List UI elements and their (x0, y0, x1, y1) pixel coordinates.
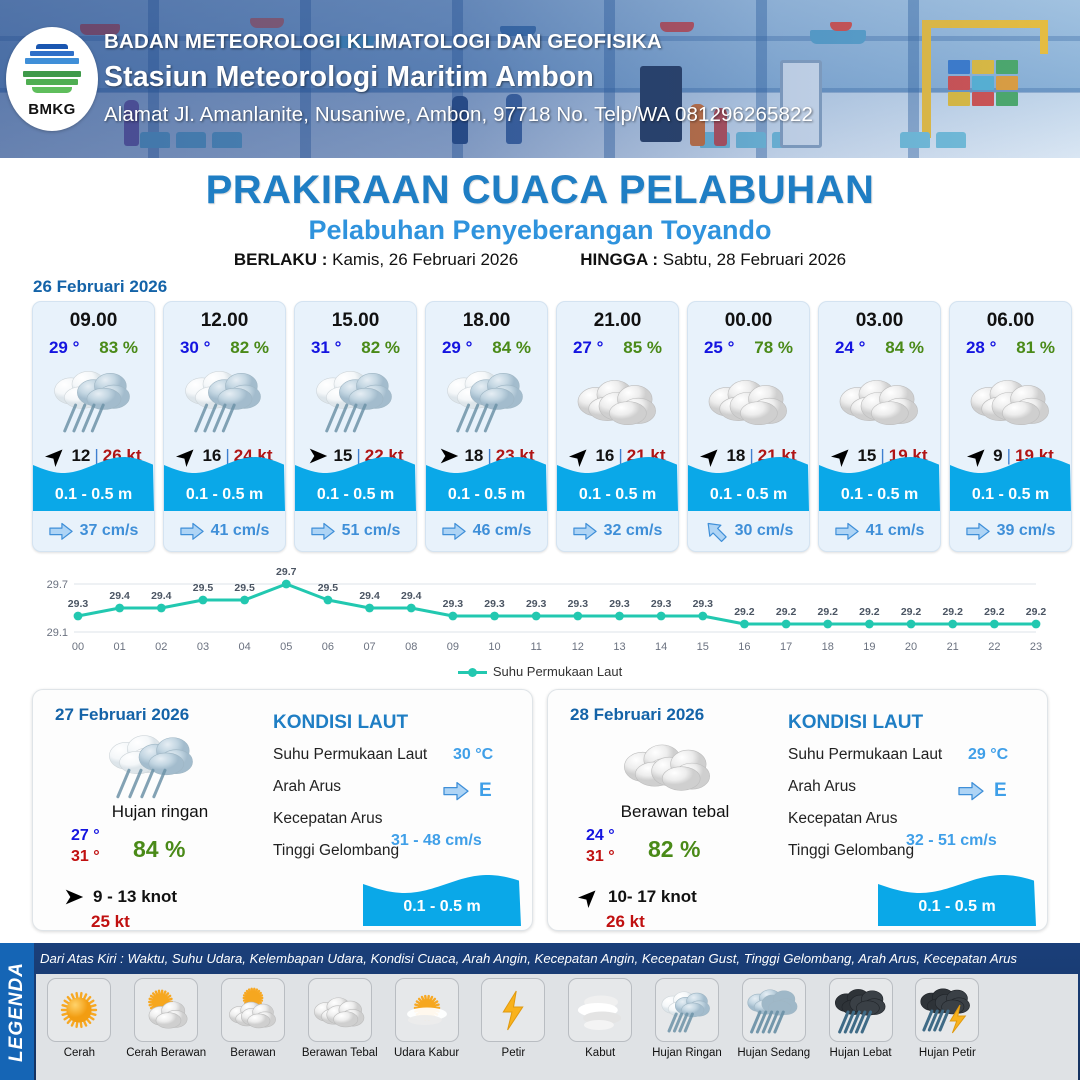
legend-item-caption: Udara Kabur (394, 1047, 459, 1059)
card-time: 03.00 (819, 310, 940, 332)
cloudy-icon (703, 361, 795, 437)
svg-text:11: 11 (530, 641, 541, 653)
panel-row-value-current-dir: E (479, 780, 492, 802)
card-current-row: 51 cm/s (295, 517, 416, 545)
legend-item-caption: Hujan Lebat (830, 1047, 892, 1059)
card-humidity: 84 % (885, 338, 924, 358)
card-wave-height: 0.1 - 0.5 m (164, 486, 285, 504)
svg-text:07: 07 (363, 641, 375, 653)
lightning-icon (486, 985, 540, 1035)
panel-wave-box (363, 864, 521, 926)
panel-temp-block: 24 ° 31 ° (586, 827, 615, 866)
forecast-card[interactable]: 03.00 24 ° 84 % 15 | 19 kt (818, 301, 941, 552)
cloudy-icon (608, 725, 728, 803)
card-current-speed: 32 cm/s (604, 522, 663, 540)
card-temp-hum-row: 27 ° 85 % (557, 338, 678, 358)
legend-icon-box (655, 978, 719, 1042)
panel-row-label-current-speed: Kecepatan Arus (273, 810, 382, 828)
card-humidity: 82 % (361, 338, 400, 358)
svg-text:29.3: 29.3 (609, 598, 630, 610)
wind-direction-arrow-ne-icon (573, 881, 604, 912)
card-current-row: 37 cm/s (33, 517, 154, 545)
legend-icon-box (395, 978, 459, 1042)
svg-text:29.3: 29.3 (651, 598, 672, 610)
moderate-rain-icon (747, 985, 801, 1035)
card-humidity: 85 % (623, 338, 662, 358)
legend-icon-box (221, 978, 285, 1042)
forecast-card[interactable]: 18.00 29 ° 84 % 18 | 23 kt (425, 301, 548, 552)
card-temperature: 24 ° (835, 338, 865, 358)
svg-text:10: 10 (488, 641, 500, 653)
panel-row-value-current-speed: 32 - 51 cm/s (906, 832, 997, 850)
panel-temp-max: 31 ° (586, 848, 615, 866)
svg-text:01: 01 (114, 641, 126, 653)
svg-text:09: 09 (447, 641, 459, 653)
validity-from-value: Kamis, 26 Februari 2026 (332, 250, 518, 269)
svg-text:29.2: 29.2 (942, 606, 963, 618)
thunderstorm-icon (920, 985, 974, 1035)
svg-text:29.5: 29.5 (193, 582, 214, 594)
card-temp-hum-row: 28 ° 81 % (950, 338, 1071, 358)
cloudy-icon (965, 361, 1057, 437)
organization-name: BADAN METEOROLOGI KLIMATOLOGI DAN GEOFIS… (104, 30, 813, 54)
card-temp-hum-row: 30 ° 82 % (164, 338, 285, 358)
current-direction-arrow-e-icon (958, 781, 984, 801)
legend-label: Suhu Permukaan Laut (493, 664, 622, 679)
svg-text:03: 03 (197, 641, 209, 653)
current-direction-arrow-e-icon (835, 522, 859, 541)
validity-from: BERLAKU : Kamis, 26 Februari 2026 (234, 250, 518, 270)
card-temperature: 31 ° (311, 338, 341, 358)
legend-item-caption: Kabut (585, 1047, 615, 1059)
validity-to: HINGGA : Sabtu, 28 Februari 2026 (580, 250, 846, 270)
legend-item[interactable]: Petir (470, 974, 557, 1059)
card-temperature: 29 ° (49, 338, 79, 358)
panel-temp-min: 27 ° (71, 827, 100, 845)
panel-wind-gust: 25 kt (91, 912, 130, 932)
svg-text:29.3: 29.3 (693, 598, 714, 610)
svg-text:21: 21 (947, 641, 959, 653)
current-direction-arrow-e-icon (442, 522, 466, 541)
panel-row-label-sst: Suhu Permukaan Laut (788, 746, 942, 764)
card-temperature: 28 ° (966, 338, 996, 358)
panel-section-title: KONDISI LAUT (273, 712, 408, 734)
card-current-row: 39 cm/s (950, 517, 1071, 545)
panel-current-direction: E (443, 780, 492, 802)
svg-text:13: 13 (613, 641, 625, 653)
legend-footer: LEGENDA Dari Atas Kiri : Waktu, Suhu Uda… (0, 943, 1080, 1080)
panel-temp-min: 24 ° (586, 827, 615, 845)
panel-date: 28 Februari 2026 (570, 705, 704, 725)
current-direction-arrow-e-icon (49, 522, 73, 541)
card-humidity: 84 % (492, 338, 531, 358)
svg-text:06: 06 (322, 641, 334, 653)
fog-icon (573, 985, 627, 1035)
legend-icon-box (829, 978, 893, 1042)
svg-text:08: 08 (405, 641, 417, 653)
card-temperature: 27 ° (573, 338, 603, 358)
card-wave-height: 0.1 - 0.5 m (950, 486, 1071, 504)
legend-icon-box (742, 978, 806, 1042)
svg-text:29.3: 29.3 (484, 598, 505, 610)
light-rain-icon (441, 361, 533, 437)
panel-condition: Berawan tebal (570, 802, 780, 822)
card-temperature: 29 ° (442, 338, 472, 358)
current-direction-arrow-e-icon (443, 781, 469, 801)
light-rain-icon (179, 361, 271, 437)
legend-icon-box (47, 978, 111, 1042)
partly-cloudy-icon (139, 985, 193, 1035)
legend-item-caption: Hujan Ringan (652, 1047, 722, 1059)
hourly-forecast-list: 09.00 29 ° 83 % 12 | 26 kt (32, 301, 1072, 552)
legend-item[interactable]: Udara Kabur (383, 974, 470, 1059)
svg-text:19: 19 (863, 641, 875, 653)
card-wave-height: 0.1 - 0.5 m (426, 486, 547, 504)
validity-to-value: Sabtu, 28 Februari 2026 (663, 250, 846, 269)
panel-temp-block: 27 ° 31 ° (71, 827, 100, 866)
card-current-row: 41 cm/s (164, 517, 285, 545)
current-direction-arrow-e-icon (573, 522, 597, 541)
panel-row-label-current-dir: Arah Arus (273, 778, 341, 796)
overcast-icon (313, 985, 367, 1035)
validity-row: BERLAKU : Kamis, 26 Februari 2026 HINGGA… (0, 250, 1080, 270)
legend-item[interactable]: Berawan Tebal (296, 974, 383, 1059)
panel-row-value-sst: 29 °C (968, 746, 1008, 764)
svg-text:29.3: 29.3 (68, 598, 89, 610)
page-title: PRAKIRAAN CUACA PELABUHAN (0, 168, 1080, 213)
panel-row-value-wave: 0.1 - 0.5 m (878, 898, 1036, 916)
card-weather-icon (557, 358, 678, 440)
light-rain-icon (48, 361, 140, 437)
svg-text:14: 14 (655, 641, 667, 653)
card-weather-icon (33, 358, 154, 440)
svg-text:29.2: 29.2 (818, 606, 839, 618)
svg-text:20: 20 (905, 641, 917, 653)
cloudy-icon (572, 361, 664, 437)
card-temperature: 30 ° (180, 338, 210, 358)
forecast-card[interactable]: 15.00 31 ° 82 % 15 | 22 kt (294, 301, 417, 552)
header-banner: BMKG BADAN METEOROLOGI KLIMATOLOGI DAN G… (0, 0, 1080, 158)
legend-side-label: LEGENDA (6, 962, 28, 1062)
panel-wave-graphic (363, 864, 521, 926)
card-current-speed: 39 cm/s (997, 522, 1056, 540)
legend-item[interactable]: Hujan Lebat (817, 974, 904, 1059)
panel-wind-row: 10- 17 knot (578, 886, 697, 908)
legend-item-caption: Berawan (230, 1047, 275, 1059)
legend-item[interactable]: Hujan Ringan (644, 974, 731, 1059)
card-humidity: 81 % (1016, 338, 1055, 358)
legend-item[interactable]: Kabut (557, 974, 644, 1059)
light-rain-icon (310, 361, 402, 437)
card-weather-icon (295, 358, 416, 440)
forecast-card[interactable]: 12.00 30 ° 82 % 16 | 24 kt (163, 301, 286, 552)
card-current-speed: 30 cm/s (735, 522, 794, 540)
legend-item[interactable]: Cerah (36, 974, 123, 1059)
forecast-day-label: 26 Februari 2026 (33, 277, 167, 297)
panel-condition: Hujan ringan (55, 802, 265, 822)
panel-wind-row: 9 - 13 knot (63, 886, 177, 908)
card-humidity: 83 % (99, 338, 138, 358)
panel-humidity: 84 % (133, 836, 185, 863)
panel-weather-icon (608, 725, 728, 803)
legend-icon-box (915, 978, 979, 1042)
legend-item[interactable]: Hujan Petir (904, 974, 991, 1059)
card-weather-icon (164, 358, 285, 440)
legend-note: Dari Atas Kiri : Waktu, Suhu Udara, Kele… (40, 951, 1076, 966)
legend-item[interactable]: Cerah Berawan (123, 974, 210, 1059)
panel-section-title: KONDISI LAUT (788, 712, 923, 734)
current-direction-arrow-nw-icon (701, 516, 731, 546)
cloudy-sun-icon (226, 985, 280, 1035)
panel-row-value-sst: 30 °C (453, 746, 493, 764)
sunny-icon (52, 985, 106, 1035)
current-direction-arrow-e-icon (966, 522, 990, 541)
legend-icon-strip: Cerah Cerah Berawan Berawan (36, 974, 1078, 1080)
svg-text:29.5: 29.5 (234, 582, 255, 594)
legend-item-caption: Cerah (64, 1047, 95, 1059)
current-direction-arrow-e-icon (180, 522, 204, 541)
card-humidity: 82 % (230, 338, 269, 358)
card-current-speed: 41 cm/s (211, 522, 270, 540)
svg-text:29.5: 29.5 (318, 582, 339, 594)
panel-row-value-current-dir: E (994, 780, 1007, 802)
legend-item-caption: Petir (502, 1047, 526, 1059)
current-direction-arrow-e-icon (311, 522, 335, 541)
legend-item[interactable]: Berawan (210, 974, 297, 1059)
card-humidity: 78 % (754, 338, 793, 358)
panel-row-label-sst: Suhu Permukaan Laut (273, 746, 427, 764)
legend-side-tab: LEGENDA (0, 943, 34, 1080)
panel-wind-speed: 10- 17 knot (608, 887, 697, 907)
legend-item[interactable]: Hujan Sedang (730, 974, 817, 1059)
panel-current-direction: E (958, 780, 1007, 802)
card-current-speed: 41 cm/s (866, 522, 925, 540)
svg-text:12: 12 (572, 641, 584, 653)
card-current-speed: 37 cm/s (80, 522, 139, 540)
card-temp-hum-row: 24 ° 84 % (819, 338, 940, 358)
station-name: Stasiun Meteorologi Maritim Ambon (104, 61, 813, 94)
forecast-card[interactable]: 21.00 27 ° 85 % 16 | 21 kt (556, 301, 679, 552)
panel-humidity: 82 % (648, 836, 700, 863)
svg-text:16: 16 (738, 641, 750, 653)
svg-text:18: 18 (822, 641, 834, 653)
panel-wind-gust: 26 kt (606, 912, 645, 932)
legend-item-caption: Hujan Sedang (737, 1047, 810, 1059)
bmkg-logo: BMKG (6, 27, 98, 131)
card-wave-height: 0.1 - 0.5 m (819, 486, 940, 504)
panel-row-label-current-speed: Kecepatan Arus (788, 810, 897, 828)
card-weather-icon (688, 358, 809, 440)
panel-wind-speed: 9 - 13 knot (93, 887, 177, 907)
card-current-row: 46 cm/s (426, 517, 547, 545)
legend-line-right (474, 671, 487, 674)
card-temperature: 25 ° (704, 338, 734, 358)
svg-text:04: 04 (238, 641, 250, 653)
forecast-card[interactable]: 06.00 28 ° 81 % 9 | 19 kt (949, 301, 1072, 552)
card-time: 00.00 (688, 310, 809, 332)
svg-text:29.1: 29.1 (47, 627, 68, 639)
svg-text:23: 23 (1030, 641, 1042, 653)
card-wave-height: 0.1 - 0.5 m (33, 486, 154, 504)
bmkg-logo-text: BMKG (28, 101, 75, 118)
card-current-speed: 46 cm/s (473, 522, 532, 540)
card-current-row: 41 cm/s (819, 517, 940, 545)
card-current-row: 32 cm/s (557, 517, 678, 545)
svg-text:29.4: 29.4 (109, 590, 130, 602)
svg-text:05: 05 (280, 641, 292, 653)
validity-to-label: HINGGA : (580, 250, 658, 269)
panel-temp-max: 31 ° (71, 848, 100, 866)
svg-text:15: 15 (697, 641, 709, 653)
haze-icon (400, 985, 454, 1035)
wind-direction-arrow-e-icon (63, 886, 85, 908)
legend-icon-box (308, 978, 372, 1042)
bmkg-logo-mark (22, 40, 82, 100)
card-weather-icon (950, 358, 1071, 440)
card-temp-hum-row: 25 ° 78 % (688, 338, 809, 358)
card-time: 15.00 (295, 310, 416, 332)
card-wave-height: 0.1 - 0.5 m (688, 486, 809, 504)
cloudy-icon (834, 361, 926, 437)
svg-text:29.4: 29.4 (401, 590, 422, 602)
card-time: 18.00 (426, 310, 547, 332)
panel-row-value-wave: 0.1 - 0.5 m (363, 898, 521, 916)
svg-text:29.7: 29.7 (47, 579, 68, 591)
card-time: 21.00 (557, 310, 678, 332)
svg-text:29.4: 29.4 (359, 590, 380, 602)
forecast-card[interactable]: 09.00 29 ° 83 % 12 | 26 kt (32, 301, 155, 552)
sst-chart: 29.129.729.30029.40129.40229.50329.50429… (30, 558, 1050, 658)
daily-panel-28: 28 Februari 2026 Berawan tebal 24 ° 31 °… (547, 689, 1048, 931)
legend-icon-box (481, 978, 545, 1042)
card-weather-icon (426, 358, 547, 440)
legend-item-caption: Hujan Petir (919, 1047, 976, 1059)
svg-text:29.2: 29.2 (901, 606, 922, 618)
svg-text:29.7: 29.7 (276, 566, 297, 578)
svg-text:29.3: 29.3 (568, 598, 589, 610)
card-current-speed: 51 cm/s (342, 522, 401, 540)
forecast-card[interactable]: 00.00 25 ° 78 % 18 | 21 kt (687, 301, 810, 552)
svg-text:22: 22 (988, 641, 1000, 653)
card-temp-hum-row: 29 ° 84 % (426, 338, 547, 358)
legend-icon-box (134, 978, 198, 1042)
panel-row-label-wave: Tinggi Gelombang (273, 842, 399, 860)
card-wave-height: 0.1 - 0.5 m (557, 486, 678, 504)
daily-panel-27: 27 Februari 2026 Hujan ringan 27 ° 31 ° … (32, 689, 533, 931)
card-wave-height: 0.1 - 0.5 m (295, 486, 416, 504)
card-weather-icon (819, 358, 940, 440)
heavy-rain-icon (834, 985, 888, 1035)
station-address: Alamat Jl. Amanlanite, Nusaniwe, Ambon, … (104, 103, 813, 127)
card-time: 09.00 (33, 310, 154, 332)
svg-text:29.2: 29.2 (984, 606, 1005, 618)
legend-item-caption: Cerah Berawan (126, 1047, 206, 1059)
svg-text:29.3: 29.3 (443, 598, 464, 610)
card-current-row: 30 cm/s (688, 517, 809, 545)
panel-wave-box (878, 864, 1036, 926)
card-temp-hum-row: 29 ° 83 % (33, 338, 154, 358)
legend-icon-box (568, 978, 632, 1042)
svg-text:02: 02 (155, 641, 167, 653)
panel-weather-icon (93, 725, 213, 803)
svg-text:29.2: 29.2 (776, 606, 797, 618)
legend-item-caption: Berawan Tebal (302, 1047, 378, 1059)
chart-legend: Suhu Permukaan Laut (0, 664, 1080, 679)
svg-text:29.4: 29.4 (151, 590, 172, 602)
panel-wave-graphic (878, 864, 1036, 926)
panel-row-value-current-speed: 31 - 48 cm/s (391, 832, 482, 850)
svg-text:29.2: 29.2 (1026, 606, 1047, 618)
svg-text:00: 00 (72, 641, 84, 653)
light-rain-icon (93, 725, 213, 803)
svg-text:29.2: 29.2 (859, 606, 880, 618)
card-temp-hum-row: 31 ° 82 % (295, 338, 416, 358)
panel-row-label-wave: Tinggi Gelombang (788, 842, 914, 860)
validity-from-label: BERLAKU : (234, 250, 328, 269)
panel-row-label-current-dir: Arah Arus (788, 778, 856, 796)
card-time: 06.00 (950, 310, 1071, 332)
infographic-page: BMKG BADAN METEOROLOGI KLIMATOLOGI DAN G… (0, 0, 1080, 1080)
svg-text:29.3: 29.3 (526, 598, 547, 610)
light-rain-icon (660, 985, 714, 1035)
header-text-block: BADAN METEOROLOGI KLIMATOLOGI DAN GEOFIS… (104, 30, 813, 127)
svg-text:29.2: 29.2 (734, 606, 755, 618)
sst-chart-svg: 29.129.729.30029.40129.40229.50329.50429… (30, 558, 1050, 658)
svg-text:17: 17 (780, 641, 792, 653)
card-time: 12.00 (164, 310, 285, 332)
page-subtitle: Pelabuhan Penyeberangan Toyando (0, 215, 1080, 246)
panel-date: 27 Februari 2026 (55, 705, 189, 725)
